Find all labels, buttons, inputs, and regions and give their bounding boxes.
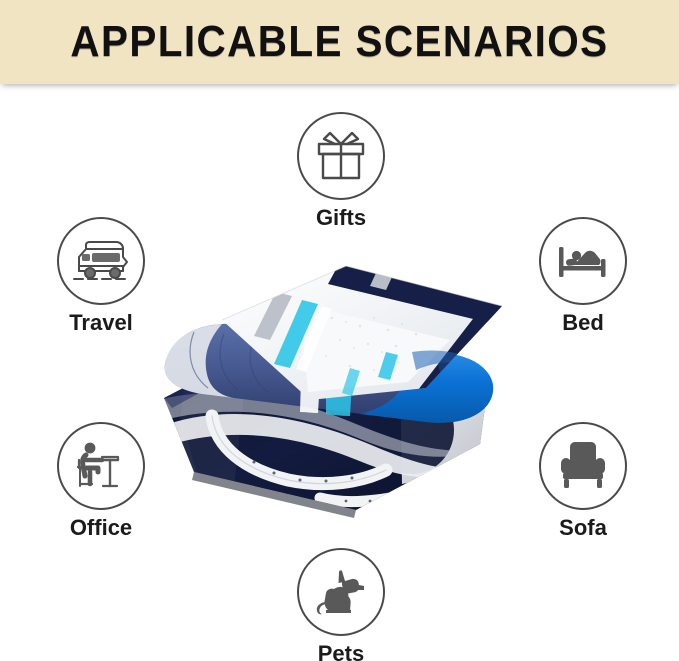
sitting-dog-icon — [312, 565, 370, 619]
product-image-folded-blanket — [150, 248, 532, 523]
gift-icon — [312, 128, 370, 184]
scenario-label-bed: Bed — [523, 311, 643, 334]
scenario-badge-bed: Bed — [523, 217, 643, 334]
pets-icon-ring — [297, 548, 385, 636]
scenario-label-sofa: Sofa — [523, 516, 643, 539]
scenario-badge-pets: Pets — [281, 548, 401, 661]
scenario-label-office: Office — [41, 516, 161, 539]
sofa-icon-ring — [539, 422, 627, 510]
bed-icon-ring — [539, 217, 627, 305]
travel-icon-ring — [57, 217, 145, 305]
gifts-icon-ring — [297, 112, 385, 200]
armchair-icon — [555, 441, 611, 491]
scenario-label-pets: Pets — [281, 642, 401, 661]
person-at-desk-icon — [73, 438, 129, 494]
header-banner: APPLICABLE SCENARIOS — [0, 0, 679, 84]
applicable-scenarios-infographic: APPLICABLE SCENARIOS — [0, 0, 679, 661]
office-icon-ring — [57, 422, 145, 510]
scenario-label-gifts: Gifts — [281, 206, 401, 229]
scenario-badge-gifts: Gifts — [281, 112, 401, 229]
scenario-badge-office: Office — [41, 422, 161, 539]
rv-camper-icon — [70, 235, 132, 287]
page-title: APPLICABLE SCENARIOS — [70, 20, 608, 64]
scenario-badge-sofa: Sofa — [523, 422, 643, 539]
bed-person-icon — [554, 237, 612, 285]
scenario-label-travel: Travel — [41, 311, 161, 334]
scenario-badge-travel: Travel — [41, 217, 161, 334]
